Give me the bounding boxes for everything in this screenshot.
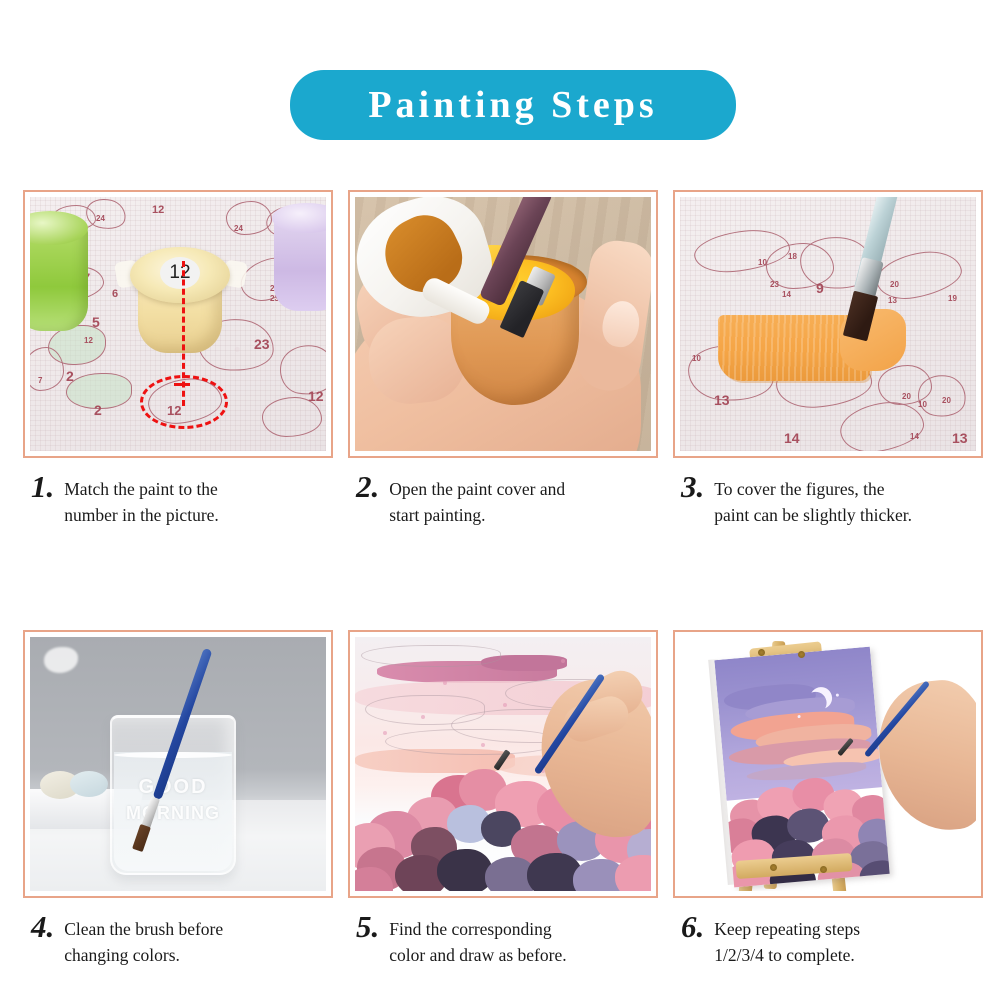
red-dashed-highlight-ellipse [140,375,228,429]
canvas-number: 18 [788,253,797,261]
green-paint-pot [30,221,88,331]
paint-pot-number-label: 12 [160,257,200,289]
canvas-number: 13 [714,393,730,407]
canvas-number: 14 [784,431,800,445]
step-1-caption: 1. Match the paint to the number in the … [23,472,333,528]
canvas-number: 9 [816,281,824,295]
step-3-caption: 3. To cover the figures, the paint can b… [673,472,983,528]
finished-painting-on-easel-photo [680,637,976,891]
canvas-number: 14 [910,433,919,441]
canvas-number: 10 [758,259,767,267]
canvas-number: 10 [692,355,701,363]
step-2: 2. Open the paint cover and start painti… [348,190,658,528]
step-2-caption: 2. Open the paint cover and start painti… [348,472,658,528]
canvas-number: 10 [918,401,927,409]
step-3-text: To cover the figures, the paint can be s… [714,472,912,528]
canvas-number: 20 [890,281,899,289]
step-6: 6. Keep repeating steps 1/2/3/4 to compl… [673,630,983,968]
step-2-text: Open the paint cover and start painting. [389,472,565,528]
canvas-number: 6 [112,289,118,300]
canvas-number: 23 [770,281,779,289]
step-5-photo-frame [348,630,658,898]
canvas-number: 20 [942,397,951,405]
highlighted-region-number: 12 [167,403,181,418]
step-2-photo-frame [348,190,658,458]
step-6-text: Keep repeating steps 1/2/3/4 to complete… [714,912,860,968]
step-4-caption: 4. Clean the brush before changing color… [23,912,333,968]
glass-printed-text: GOOD MORNING [112,774,234,826]
step-1-photo-frame: 12 24 24 2 7 6 5 12 2 7 2 23 24 23 12 [23,190,333,458]
painting-steps-infographic: Painting Steps [0,0,1000,1000]
glass-text-line-1: GOOD [112,774,234,800]
canvas-number: 12 [152,205,164,216]
finished-canvas [714,647,889,888]
canvas-number: 24 [96,215,105,223]
painting-in-progress-photo [355,637,651,891]
step-3-number: 3. [681,472,704,502]
canvas-number: 13 [888,297,897,305]
canvas-number: 12 [308,389,324,403]
blurred-object [70,771,108,797]
step-2-number: 2. [356,472,379,502]
step-1-number: 1. [31,472,54,502]
step-3-photo-frame: 10 18 23 14 9 20 13 19 10 20 13 14 20 10… [673,190,983,458]
step-4: GOOD MORNING 4. Clean the brush before c… [23,630,333,968]
rinsing-brush-in-water-glass-photo: GOOD MORNING [30,637,326,891]
canvas-number: 19 [948,295,957,303]
step-5-caption: 5. Find the corresponding color and draw… [348,912,658,968]
canvas-number: 13 [952,431,968,445]
labeled-paint-pot: 12 [126,235,234,355]
glass-text-line-2: MORNING [112,800,234,826]
canvas-number: 12 [84,337,93,345]
canvas-number: 20 [902,393,911,401]
step-4-number: 4. [31,912,54,942]
purple-paint-pot [274,211,326,311]
step-6-photo-frame [673,630,983,898]
steps-grid: 12 24 24 2 7 6 5 12 2 7 2 23 24 23 12 [23,190,983,968]
page-title-banner: Painting Steps [290,70,736,140]
paint-pot-matching-number-photo: 12 24 24 2 7 6 5 12 2 7 2 23 24 23 12 [30,197,326,451]
canvas-number: 14 [782,291,791,299]
step-6-number: 6. [681,912,704,942]
page-title: Painting Steps [368,86,657,124]
canvas-number: 2 [66,369,74,383]
step-4-photo-frame: GOOD MORNING [23,630,333,898]
canvas-number: 2 [94,403,102,417]
canvas-number: 5 [92,315,100,329]
canvas-number: 23 [254,337,270,351]
step-4-text: Clean the brush before changing colors. [64,912,223,968]
step-5: 5. Find the corresponding color and draw… [348,630,658,968]
opening-paint-pot-photo [355,197,651,451]
step-1: 12 24 24 2 7 6 5 12 2 7 2 23 24 23 12 [23,190,333,528]
brush-stroke-on-canvas-photo: 10 18 23 14 9 20 13 19 10 20 13 14 20 10… [680,197,976,451]
canvas-number: 24 [234,225,243,233]
step-1-text: Match the paint to the number in the pic… [64,472,219,528]
step-3: 10 18 23 14 9 20 13 19 10 20 13 14 20 10… [673,190,983,528]
step-5-text: Find the corresponding color and draw as… [389,912,566,968]
canvas-number: 7 [38,377,42,385]
step-5-number: 5. [356,912,379,942]
step-6-caption: 6. Keep repeating steps 1/2/3/4 to compl… [673,912,983,968]
